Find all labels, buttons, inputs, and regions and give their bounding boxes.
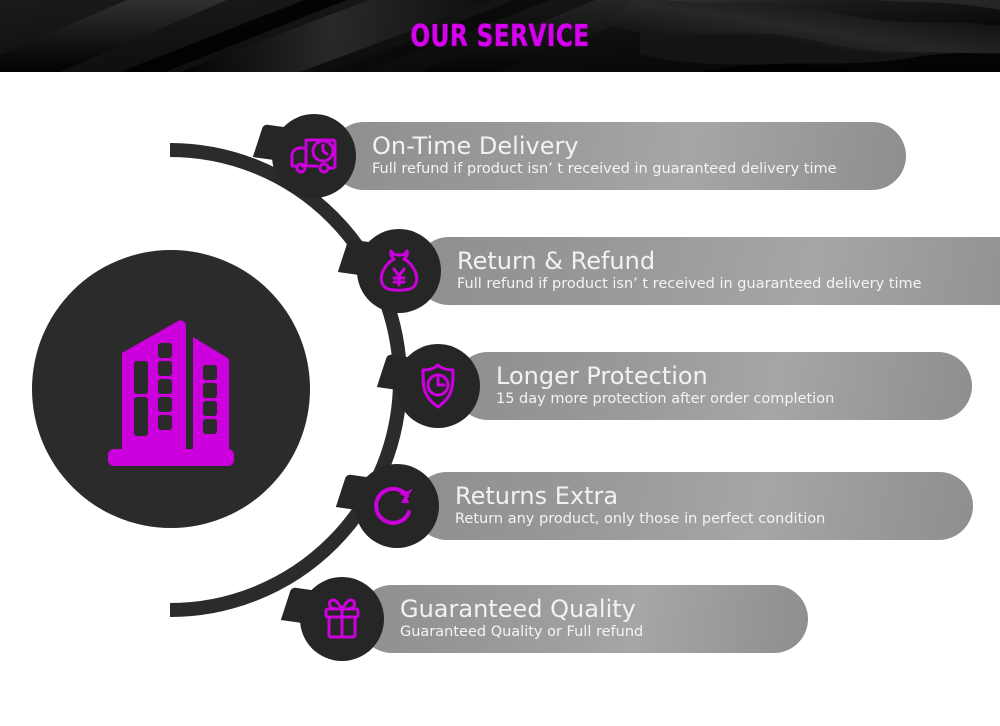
service-pill: Longer Protection 15 day more protection… xyxy=(454,352,972,420)
service-row[interactable]: Return & Refund Full refund if product i… xyxy=(357,223,1000,319)
service-subtitle: Return any product, only those in perfec… xyxy=(455,510,951,529)
service-title: On-Time Delivery xyxy=(372,133,884,159)
service-subtitle: Guaranteed Quality or Full refund xyxy=(400,623,786,642)
service-icon-bubble xyxy=(396,344,480,428)
page-title-text: OUR SERVICE xyxy=(410,19,589,54)
service-pill: Returns Extra Return any product, only t… xyxy=(413,472,973,540)
money-bag-yen-icon xyxy=(376,247,422,295)
header-banner: OUR SERVICE xyxy=(0,0,1000,72)
service-pill: On-Time Delivery Full refund if product … xyxy=(330,122,906,190)
gift-box-icon xyxy=(318,595,366,643)
refresh-circle-arrow-icon xyxy=(373,482,421,530)
service-subtitle: 15 day more protection after order compl… xyxy=(496,390,950,409)
service-pill: Guaranteed Quality Guaranteed Quality or… xyxy=(358,585,808,653)
service-icon-bubble xyxy=(355,464,439,548)
service-row[interactable]: Longer Protection 15 day more protection… xyxy=(396,338,972,434)
delivery-truck-clock-icon xyxy=(288,134,340,178)
buildings-icon xyxy=(86,305,256,473)
service-title: Returns Extra xyxy=(455,483,951,509)
service-subtitle: Full refund if product isn’ t received i… xyxy=(372,160,884,179)
service-infographic-page: OUR SERVICE xyxy=(0,0,1000,726)
service-icon-bubble xyxy=(300,577,384,661)
service-subtitle: Full refund if product isn’ t received i… xyxy=(457,275,1000,294)
service-icon-bubble xyxy=(272,114,356,198)
service-title: Return & Refund xyxy=(457,248,1000,274)
service-title: Longer Protection xyxy=(496,363,950,389)
service-icon-bubble xyxy=(357,229,441,313)
service-row[interactable]: Guaranteed Quality Guaranteed Quality or… xyxy=(300,571,808,667)
hero-circle xyxy=(32,250,310,528)
service-row[interactable]: Returns Extra Return any product, only t… xyxy=(355,458,973,554)
service-row[interactable]: On-Time Delivery Full refund if product … xyxy=(272,108,906,204)
shield-clock-icon xyxy=(415,361,461,411)
page-title: OUR SERVICE xyxy=(70,0,930,72)
service-pill: Return & Refund Full refund if product i… xyxy=(415,237,1000,305)
service-title: Guaranteed Quality xyxy=(400,596,786,622)
